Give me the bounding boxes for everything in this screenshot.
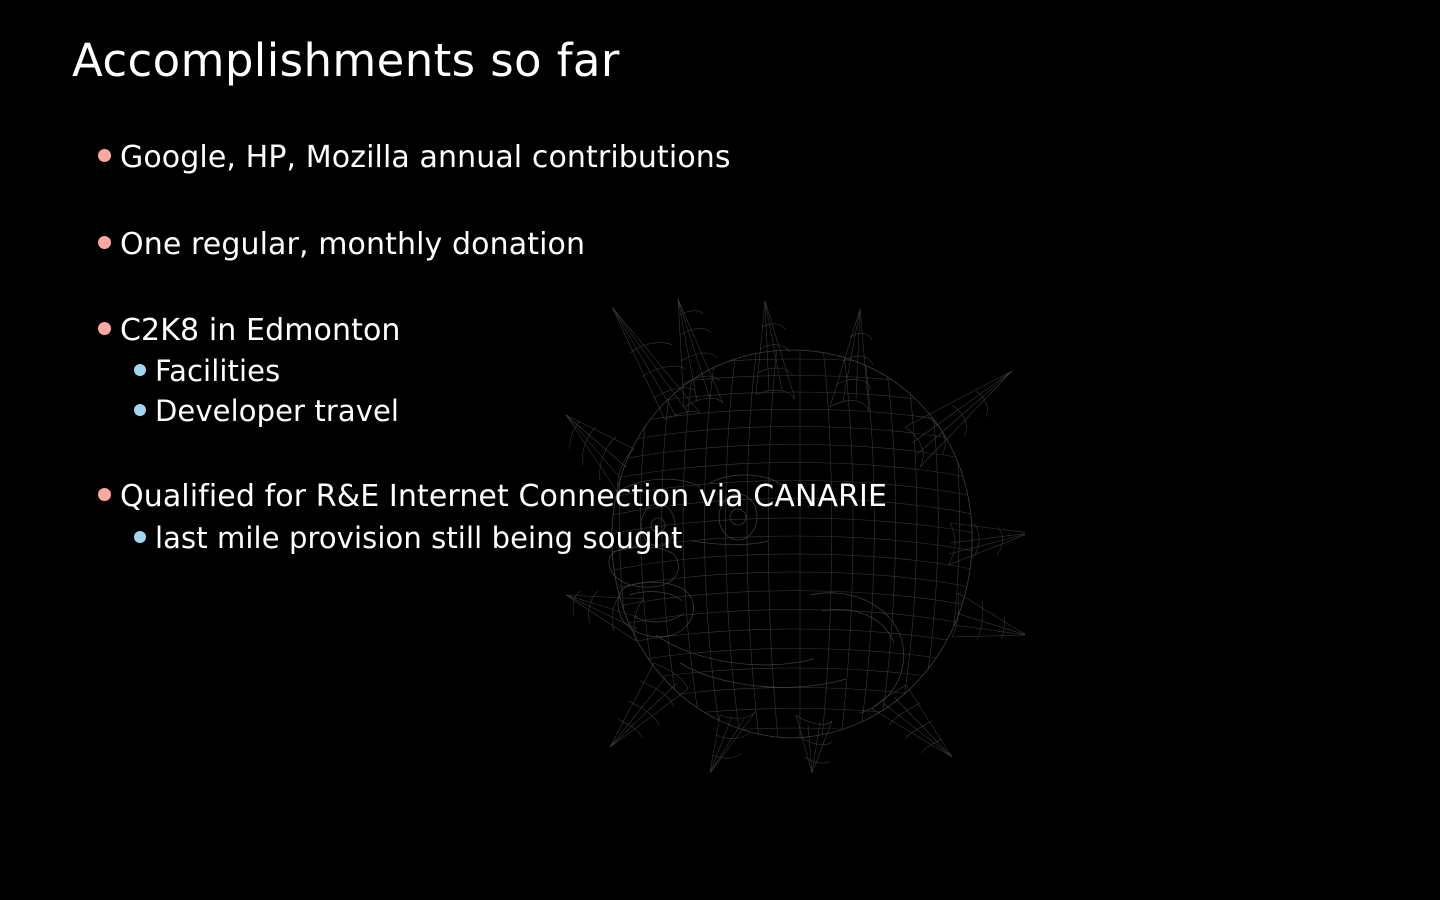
list-item-label: Qualified for R&E Internet Connection vi… (120, 479, 887, 514)
list-item-label: One regular, monthly donation (120, 227, 585, 262)
round-bullet-icon (98, 488, 111, 501)
list-item: C2K8 in Edmonton (98, 313, 401, 348)
list-item-label: Facilities (155, 354, 280, 388)
round-bullet-icon (98, 236, 111, 249)
list-item: One regular, monthly donation (98, 227, 585, 262)
list-item: Facilities (134, 354, 280, 388)
round-bullet-icon (134, 531, 146, 543)
list-item-label: Developer travel (155, 394, 399, 428)
list-item: Developer travel (134, 394, 399, 428)
list-item: Qualified for R&E Internet Connection vi… (98, 479, 887, 514)
round-bullet-icon (98, 322, 111, 335)
list-item-label: C2K8 in Edmonton (120, 313, 401, 348)
presentation-slide: Accomplishments so far Google, HP, Mozil… (0, 0, 1440, 900)
round-bullet-icon (98, 149, 111, 162)
list-item-label: Google, HP, Mozilla annual contributions (120, 140, 731, 175)
page-title: Accomplishments so far (72, 36, 620, 86)
round-bullet-icon (134, 404, 146, 416)
list-item: Google, HP, Mozilla annual contributions (98, 140, 731, 175)
list-item-label: last mile provision still being sought (155, 521, 683, 555)
round-bullet-icon (134, 364, 146, 376)
list-item: last mile provision still being sought (134, 521, 683, 555)
